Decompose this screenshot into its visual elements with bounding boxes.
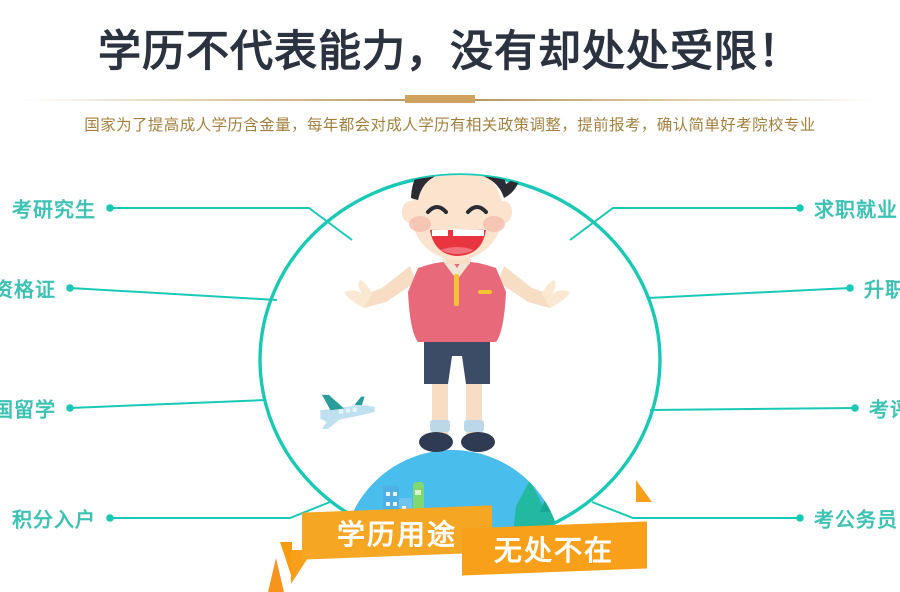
bottom-banner: 学历用途 无处不在 — [0, 150, 900, 592]
degree-uses-diagram: 考研究生 考资格证 出国留学 积分入户 求职就业 升职加薪 考评职称 考公务员 … — [0, 150, 900, 592]
header: 学历不代表能力，没有却处处受限！ 国家为了提高成人学历含金量，每年都会对成人学历… — [0, 0, 900, 150]
ribbon-left-text: 学历用途 — [337, 513, 457, 553]
page-subtitle: 国家为了提高成人学历含金量，每年都会对成人学历有相关政策调整，提前报考，确认简单… — [0, 113, 900, 135]
ribbon-right: 无处不在 — [462, 521, 647, 575]
page-title: 学历不代表能力，没有却处处受限！ — [0, 17, 900, 79]
ribbon-right-text: 无处不在 — [494, 529, 614, 569]
divider-center-block — [405, 95, 475, 103]
title-divider — [0, 95, 900, 105]
ribbon-tail-right — [636, 480, 652, 502]
